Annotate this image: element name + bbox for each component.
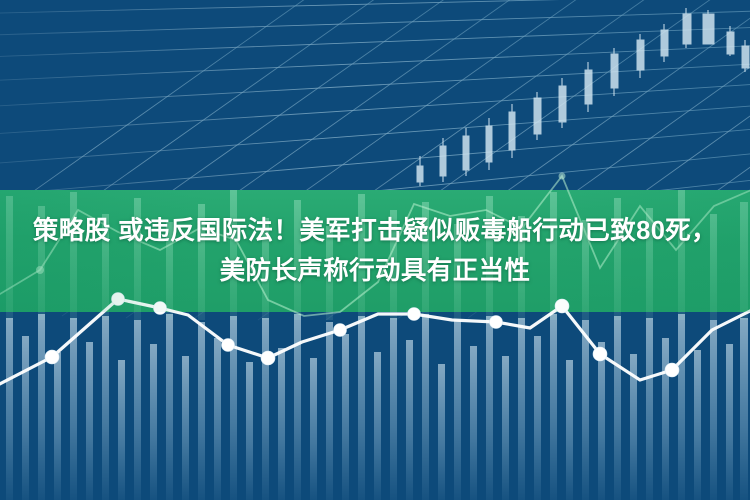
headline-line-2: 美防长声称行动具有正当性 xyxy=(220,251,531,291)
headline-line-1: 策略股 或违反国际法！美军打击疑似贩毒船行动已致80死， xyxy=(33,211,717,251)
news-banner-image: 策略股 或违反国际法！美军打击疑似贩毒船行动已致80死， 美防长声称行动具有正当… xyxy=(0,0,750,500)
headline-text: 策略股 或违反国际法！美军打击疑似贩毒船行动已致80死， 美防长声称行动具有正当… xyxy=(0,190,750,312)
